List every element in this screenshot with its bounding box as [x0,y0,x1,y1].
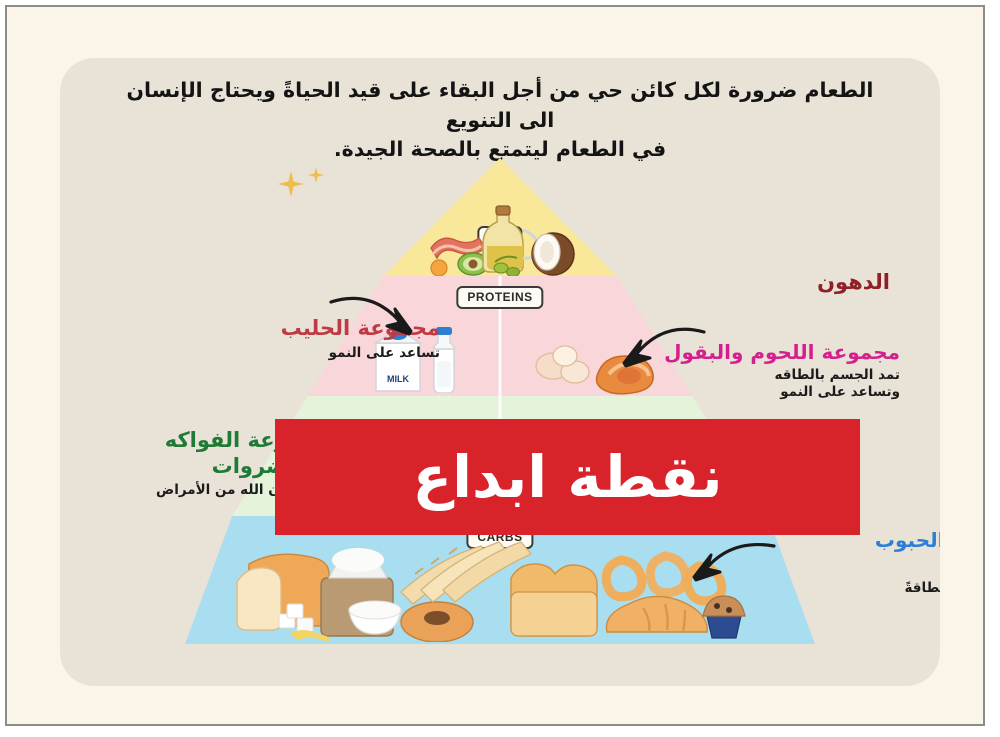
arrow-to-grains-icon [670,536,780,602]
title-line-1: الطعام ضرورة لكل كائن حي من أجل البقاء ع… [127,78,874,132]
page-title: الطعام ضرورة لكل كائن حي من أجل البقاء ع… [120,76,880,165]
badge-proteins: PROTEINS [456,286,543,309]
arrow-to-meat-icon [600,318,710,388]
label-grains-group: مجموعة الحبوب والخبز تمد الجسم بالطاقةً [760,528,940,596]
label-grains-title-2: والخبز [760,552,940,576]
watermark-banner: نقطة ابداع [275,419,860,535]
label-fats: الدهون [660,270,890,296]
label-grains-subtitle: تمد الجسم بالطاقةً [760,580,940,596]
watermark-text: نقطة ابداع [412,443,722,511]
slide-canvas: الطعام ضرورة لكل كائن حي من أجل البقاء ع… [0,0,1000,737]
label-fats-title: الدهون [660,270,890,296]
content-panel: الطعام ضرورة لكل كائن حي من أجل البقاء ع… [60,58,940,686]
svg-text:MILK: MILK [387,374,409,384]
fat-foods-illustration [425,188,585,276]
arrow-to-milk-icon [325,286,435,356]
